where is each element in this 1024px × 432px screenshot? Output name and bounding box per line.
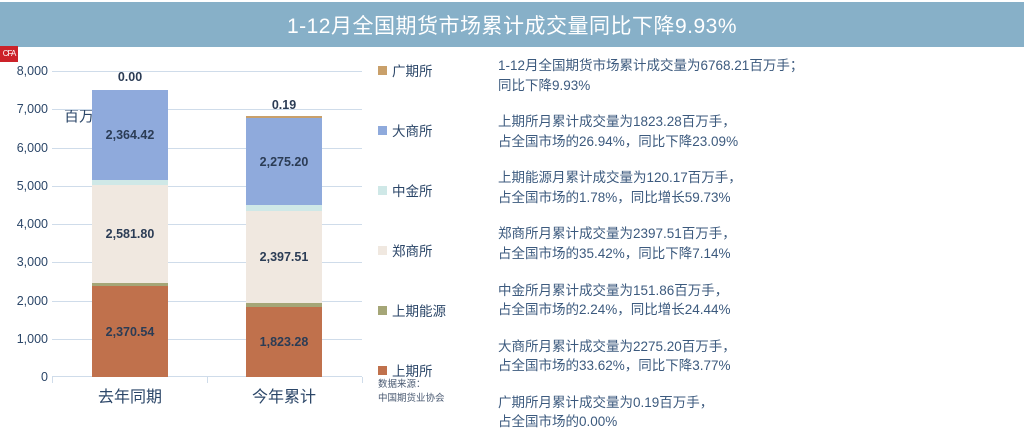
bar-segment[interactable]: 151.86	[246, 205, 322, 211]
data-source-label: 数据来源：	[378, 378, 498, 392]
y-axis-tick-label: 7,000	[0, 102, 48, 116]
commentary-panel: 1-12月全国期货市场累计成交量为6768.21百万手； 同比下降9.93%上期…	[498, 56, 998, 432]
legend-item-label: 广期所	[392, 60, 433, 80]
y-axis-tick-label: 8,000	[0, 64, 48, 78]
commentary-note: 上期能源月累计成交量为120.17百万手， 占全国市场的1.78%，同比增长59…	[498, 168, 998, 207]
bar-segment[interactable]: 122.03	[92, 180, 168, 185]
plot-area: 0.002,370.5475.232,581.80122.032,364.42去…	[52, 71, 362, 377]
y-axis-tick-label: 6,000	[0, 141, 48, 155]
commentary-note: 中金所月累计成交量为151.86百万手， 占全国市场的2.24%，同比增长24.…	[498, 281, 998, 320]
gridline	[52, 71, 362, 72]
y-axis-tick-label: 0	[0, 370, 48, 384]
legend-swatch-icon	[378, 66, 387, 75]
bar-segment[interactable]: 2,581.80	[92, 185, 168, 284]
bar-stack[interactable]: 1,823.28120.172,397.51151.862,275.20	[246, 116, 322, 377]
title-banner: 1-12月全国期货市场累计成交量同比下降9.93%	[0, 2, 1024, 47]
bar-segment-value-label: 2,364.42	[106, 128, 155, 142]
y-axis-tick-label: 3,000	[0, 255, 48, 269]
page-title: 1-12月全国期货市场累计成交量同比下降9.93%	[287, 10, 737, 40]
legend-item-上期所[interactable]: 上期所	[378, 360, 490, 380]
data-source-note: 数据来源： 中国期货业协会	[378, 378, 498, 406]
bar-segment[interactable]: 2,275.20	[246, 118, 322, 205]
x-axis-tick-mark	[362, 377, 363, 383]
legend-item-label: 上期能源	[392, 300, 446, 320]
x-axis-tick-mark	[52, 377, 53, 383]
bar-segment[interactable]: 2,370.54	[92, 286, 168, 377]
y-axis-tick-label: 2,000	[0, 294, 48, 308]
bar-segment[interactable]: 2,397.51	[246, 211, 322, 303]
legend-swatch-icon	[378, 246, 387, 255]
legend-item-大商所[interactable]: 大商所	[378, 120, 490, 140]
legend-item-label: 上期所	[392, 360, 433, 380]
bar-stack[interactable]: 2,370.5475.232,581.80122.032,364.42	[92, 90, 168, 377]
bar-segment-value-label: 2,397.51	[260, 250, 309, 264]
bar-segment[interactable]: 75.23	[92, 283, 168, 286]
bar-segment-value-label: 2,581.80	[106, 227, 155, 241]
legend-item-label: 大商所	[392, 120, 433, 140]
bar-segment[interactable]: 1,823.28	[246, 307, 322, 377]
y-axis-tick-label: 4,000	[0, 217, 48, 231]
bar-top-value-label: 0.19	[272, 98, 296, 112]
bar-top-value-label: 0.00	[118, 70, 142, 84]
bar-segment[interactable]: 120.17	[246, 303, 322, 308]
commentary-note: 广期所月累计成交量为0.19百万手， 占全国市场的0.00%	[498, 393, 998, 432]
commentary-note: 郑商所月累计成交量为2397.51百万手， 占全国市场的35.42%，同比下降7…	[498, 224, 998, 263]
legend-swatch-icon	[378, 126, 387, 135]
legend-swatch-icon	[378, 186, 387, 195]
bar-segment[interactable]: 2,364.42	[92, 90, 168, 180]
bar-segment[interactable]	[246, 116, 322, 118]
legend-swatch-icon	[378, 306, 387, 315]
commentary-note: 1-12月全国期货市场累计成交量为6768.21百万手； 同比下降9.93%	[498, 56, 998, 95]
legend-item-广期所[interactable]: 广期所	[378, 60, 490, 80]
commentary-note: 上期所月累计成交量为1823.28百万手， 占全国市场的26.94%，同比下降2…	[498, 112, 998, 151]
legend-swatch-icon	[378, 366, 387, 375]
legend-item-中金所[interactable]: 中金所	[378, 180, 490, 200]
bar-segment-value-label: 2,275.20	[260, 155, 309, 169]
legend-item-上期能源[interactable]: 上期能源	[378, 300, 490, 320]
legend-item-label: 郑商所	[392, 240, 433, 260]
legend-item-label: 中金所	[392, 180, 433, 200]
legend-item-郑商所[interactable]: 郑商所	[378, 240, 490, 260]
commentary-note: 大商所月累计成交量为2275.20百万手， 占全国市场的33.62%，同比下降3…	[498, 337, 998, 376]
bar-segment-value-label: 1,823.28	[260, 335, 309, 349]
y-axis-tick-label: 5,000	[0, 179, 48, 193]
x-axis-category-label: 去年同期	[60, 383, 200, 407]
chart-legend: 广期所大商所中金所郑商所上期能源上期所	[378, 60, 490, 380]
y-axis-tick-label: 1,000	[0, 332, 48, 346]
x-axis-tick-mark	[207, 377, 208, 383]
data-source-value: 中国期货业协会	[378, 392, 498, 406]
x-axis-category-label: 今年累计	[214, 383, 354, 407]
bar-segment-value-label: 2,370.54	[106, 325, 155, 339]
y-axis: 01,0002,0003,0004,0005,0006,0007,0008,00…	[0, 47, 48, 377]
